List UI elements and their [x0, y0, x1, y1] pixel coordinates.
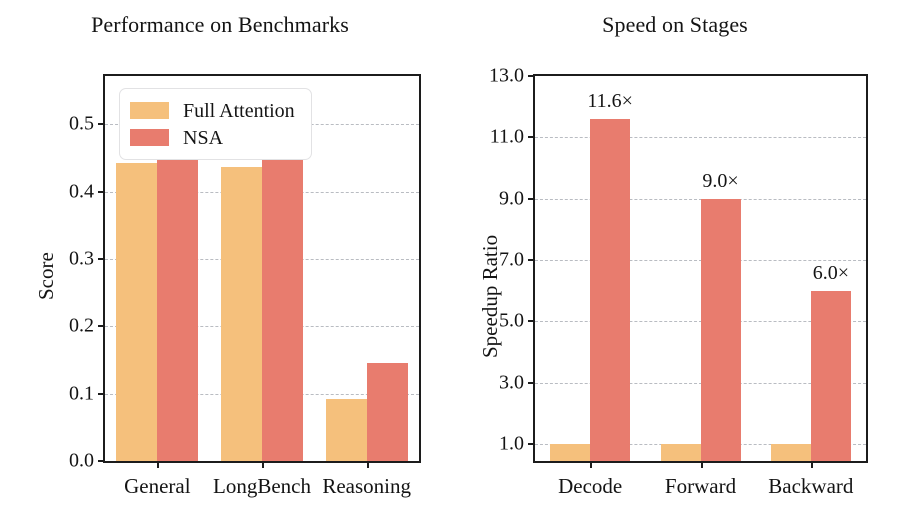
- legend-item-full-attention: Full Attention: [130, 97, 295, 124]
- x-tick-label: Reasoning: [322, 474, 411, 499]
- legend-label-nsa: NSA: [183, 128, 223, 148]
- x-tick-mark: [590, 461, 592, 468]
- legend-label-full-attention: Full Attention: [183, 101, 295, 121]
- y-tick-label: 1.0: [499, 433, 535, 456]
- x-tick-mark: [367, 461, 369, 468]
- y-tick-label: 11.0: [490, 126, 535, 149]
- bar-value-label: 11.6×: [587, 90, 633, 113]
- x-tick-mark: [701, 461, 703, 468]
- plot-area-left: 0.00.10.20.30.40.5 GeneralLongBenchReaso…: [103, 74, 421, 463]
- x-tick-mark: [811, 461, 813, 468]
- plot-area-right: 1.03.05.07.09.011.013.0 DecodeForwardBac…: [533, 74, 868, 463]
- panel-title-right: Speed on Stages: [450, 12, 900, 38]
- y-axis-label-right: Speedup Ratio: [478, 235, 503, 358]
- panel-speed-on-stages: Speed on Stages 1.03.05.07.09.011.013.0 …: [450, 0, 900, 518]
- figure-canvas: Performance on Benchmarks Score 0.00.10.…: [0, 0, 900, 518]
- x-tick-mark: [157, 461, 159, 468]
- x-tick-mark: [262, 461, 264, 468]
- y-tick-label: 13.0: [489, 65, 535, 88]
- y-tick-label: 0.3: [69, 248, 105, 271]
- x-tick-label: Decode: [558, 474, 622, 499]
- y-tick-label: 0.1: [69, 382, 105, 405]
- y-tick-label: 5.0: [499, 310, 535, 333]
- bar-value-label: 6.0×: [813, 262, 849, 285]
- y-tick-label: 7.0: [499, 249, 535, 272]
- y-tick-label: 0.2: [69, 315, 105, 338]
- x-tick-label: General: [124, 474, 190, 499]
- bar-value-label: 9.0×: [702, 170, 738, 193]
- y-tick-label: 3.0: [499, 371, 535, 394]
- y-axis-label-left: Score: [34, 252, 59, 300]
- legend-swatch-nsa: [130, 129, 169, 146]
- legend-swatch-full-attention: [130, 102, 169, 119]
- panel-performance-on-benchmarks: Performance on Benchmarks Score 0.00.10.…: [0, 0, 450, 518]
- y-tick-label: 0.5: [69, 113, 105, 136]
- x-tick-label: Backward: [768, 474, 853, 499]
- x-tick-label: LongBench: [213, 474, 311, 499]
- y-tick-label: 0.4: [69, 180, 105, 203]
- y-tick-label: 0.0: [69, 450, 105, 473]
- legend-box: Full Attention NSA: [119, 88, 312, 160]
- x-tick-label: Forward: [665, 474, 736, 499]
- legend-item-nsa: NSA: [130, 124, 295, 151]
- panel-title-left: Performance on Benchmarks: [0, 12, 445, 38]
- y-tick-label: 9.0: [499, 187, 535, 210]
- bar-value-labels-right: 11.6×9.0×6.0×: [535, 76, 866, 461]
